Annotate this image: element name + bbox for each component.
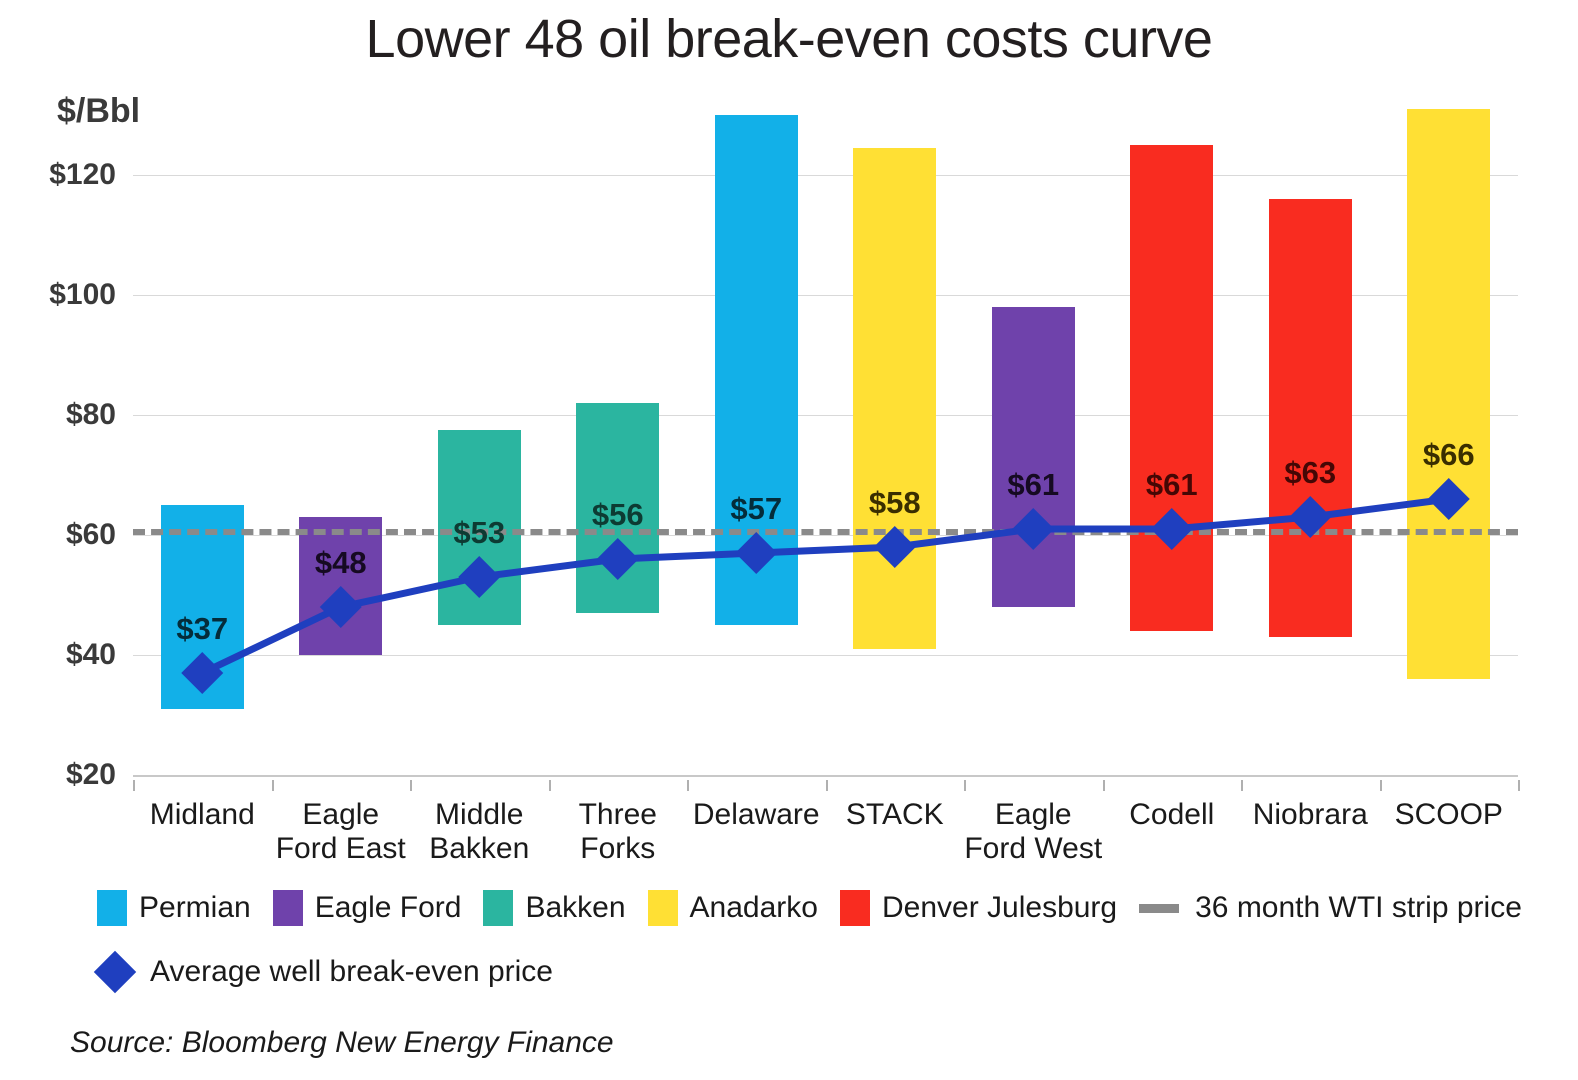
point-value-label: $48 xyxy=(315,545,367,581)
x-axis-tick-mark xyxy=(964,780,966,791)
x-axis-label-line: Niobrara xyxy=(1253,798,1368,832)
dash-line-icon xyxy=(1139,904,1179,913)
x-axis-label-niobrara: Niobrara xyxy=(1253,798,1368,832)
x-axis-label-stack: STACK xyxy=(846,798,944,832)
x-axis-label-midland: Midland xyxy=(150,798,255,832)
x-axis-label-line: Forks xyxy=(579,832,657,866)
y-tick-label: $60 xyxy=(0,518,116,552)
point-value-label: $61 xyxy=(1007,467,1059,503)
source-note: Source: Bloomberg New Energy Finance xyxy=(70,1026,614,1060)
point-value-label: $53 xyxy=(453,515,505,551)
average-breakeven-line xyxy=(133,95,1518,780)
point-value-label: $58 xyxy=(869,485,921,521)
point-value-label: $56 xyxy=(592,497,644,533)
diamond-marker xyxy=(597,538,639,580)
diamond-marker xyxy=(1289,496,1331,538)
x-axis-label-delaware: Delaware xyxy=(693,798,820,832)
x-axis-label-line: Midland xyxy=(150,798,255,832)
x-axis-tick-mark xyxy=(272,780,274,791)
y-tick-label: $120 xyxy=(0,158,116,192)
y-tick-label: $20 xyxy=(0,758,116,792)
x-axis-label-line: Ford West xyxy=(964,832,1102,866)
x-axis-tick-mark xyxy=(687,780,689,791)
y-tick-label: $80 xyxy=(0,398,116,432)
x-axis-tick-mark xyxy=(1518,780,1520,791)
diamond-marker xyxy=(1012,508,1054,550)
x-axis-tick-mark xyxy=(1103,780,1105,791)
diamond-marker xyxy=(735,532,777,574)
x-axis-label-codell: Codell xyxy=(1129,798,1214,832)
page-title: Lower 48 oil break-even costs curve xyxy=(0,8,1578,70)
diamond-marker xyxy=(458,556,500,598)
legend-label: Permian xyxy=(139,891,251,925)
legend-item-denver-julesburg[interactable]: Denver Julesburg xyxy=(840,890,1117,926)
point-value-label: $37 xyxy=(176,611,228,647)
diamond-marker xyxy=(1151,508,1193,550)
color-swatch-icon xyxy=(840,890,870,926)
x-axis-tick-mark xyxy=(133,780,135,791)
point-value-label: $61 xyxy=(1146,467,1198,503)
legend-row-secondary: Average well break-even price xyxy=(97,952,575,992)
legend-item-permian[interactable]: Permian xyxy=(97,890,251,926)
x-axis-label-eagle-ford-east: EagleFord East xyxy=(276,798,406,865)
x-axis-label-line: Three xyxy=(579,798,657,832)
y-tick-label: $40 xyxy=(0,638,116,672)
diamond-marker-icon xyxy=(94,951,136,993)
diamond-marker xyxy=(181,652,223,694)
y-axis-unit-label: $/Bbl xyxy=(57,92,140,131)
legend-row-primary: PermianEagle FordBakkenAnadarkoDenver Ju… xyxy=(97,888,1544,928)
x-axis: MidlandEagleFord EastMiddleBakkenThreeFo… xyxy=(133,780,1518,880)
legend-label: Bakken xyxy=(525,891,625,925)
color-swatch-icon xyxy=(273,890,303,926)
legend-item-bakken[interactable]: Bakken xyxy=(483,890,625,926)
x-axis-tick-mark xyxy=(826,780,828,791)
y-tick-label: $100 xyxy=(0,278,116,312)
color-swatch-icon xyxy=(648,890,678,926)
x-axis-label-three-forks: ThreeForks xyxy=(579,798,657,865)
x-axis-label-middle-bakken: MiddleBakken xyxy=(429,798,529,865)
x-axis-label-line: Codell xyxy=(1129,798,1214,832)
x-axis-label-line: Eagle xyxy=(964,798,1102,832)
x-axis-label-eagle-ford-west: EagleFord West xyxy=(964,798,1102,865)
color-swatch-icon xyxy=(97,890,127,926)
x-axis-tick-mark xyxy=(1380,780,1382,791)
point-value-label: $66 xyxy=(1423,437,1475,473)
point-value-label: $63 xyxy=(1284,455,1336,491)
plot-area: $37$48$53$56$57$58$61$61$63$66 xyxy=(133,95,1518,780)
legend-item-anadarko[interactable]: Anadarko xyxy=(648,890,818,926)
legend-item-eagle-ford[interactable]: Eagle Ford xyxy=(273,890,462,926)
x-axis-label-line: Eagle xyxy=(276,798,406,832)
diamond-marker xyxy=(1428,478,1470,520)
legend-item-average-well-break-even-price[interactable]: Average well break-even price xyxy=(97,955,553,989)
legend-label: Anadarko xyxy=(690,891,818,925)
x-axis-label-scoop: SCOOP xyxy=(1395,798,1503,832)
point-value-label: $57 xyxy=(730,491,782,527)
x-axis-label-line: STACK xyxy=(846,798,944,832)
diamond-marker xyxy=(320,586,362,628)
x-axis-tick-mark xyxy=(410,780,412,791)
legend-label: Average well break-even price xyxy=(150,955,553,989)
x-axis-label-line: SCOOP xyxy=(1395,798,1503,832)
legend-label: Eagle Ford xyxy=(315,891,462,925)
legend-item-36-month-wti-strip-price[interactable]: 36 month WTI strip price xyxy=(1139,891,1522,925)
x-axis-label-line: Ford East xyxy=(276,832,406,866)
x-axis-label-line: Delaware xyxy=(693,798,820,832)
legend-label: Denver Julesburg xyxy=(882,891,1117,925)
average-breakeven-polyline xyxy=(202,499,1449,673)
x-axis-tick-mark xyxy=(549,780,551,791)
x-axis-tick-mark xyxy=(1241,780,1243,791)
color-swatch-icon xyxy=(483,890,513,926)
legend-label: 36 month WTI strip price xyxy=(1195,891,1522,925)
x-axis-label-line: Middle xyxy=(429,798,529,832)
x-axis-label-line: Bakken xyxy=(429,832,529,866)
diamond-marker xyxy=(874,526,916,568)
